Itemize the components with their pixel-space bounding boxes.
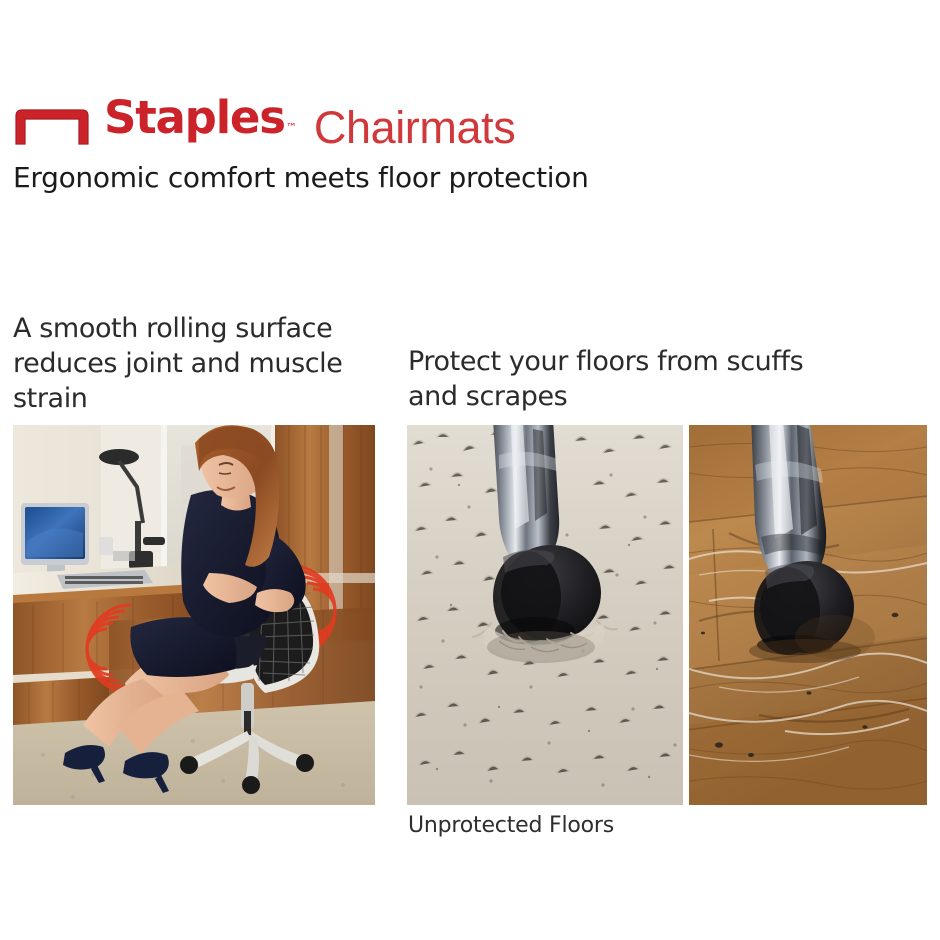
unprotected-floors-caption: Unprotected Floors xyxy=(408,812,614,840)
brand-name: Staples™ xyxy=(104,96,297,150)
photo-woman-at-desk xyxy=(13,425,375,805)
staple-logo-icon xyxy=(13,107,91,145)
trademark-symbol: ™ xyxy=(286,121,297,134)
right-panel-heading: Protect your floors from scuffs and scra… xyxy=(408,344,828,414)
photo-caster-on-carpet xyxy=(407,425,683,805)
tagline: Ergonomic comfort meets floor protection xyxy=(13,161,927,195)
photo-caster-on-hardwood xyxy=(689,425,927,805)
brand-name-text: Staples xyxy=(104,91,285,144)
left-panel-heading: A smooth rolling surface reduces joint a… xyxy=(13,311,373,416)
brand-lockup: Staples™ Chairmats xyxy=(13,96,927,150)
page-header: Staples™ Chairmats Ergonomic comfort mee… xyxy=(13,96,927,195)
product-name: Chairmats xyxy=(314,106,515,150)
